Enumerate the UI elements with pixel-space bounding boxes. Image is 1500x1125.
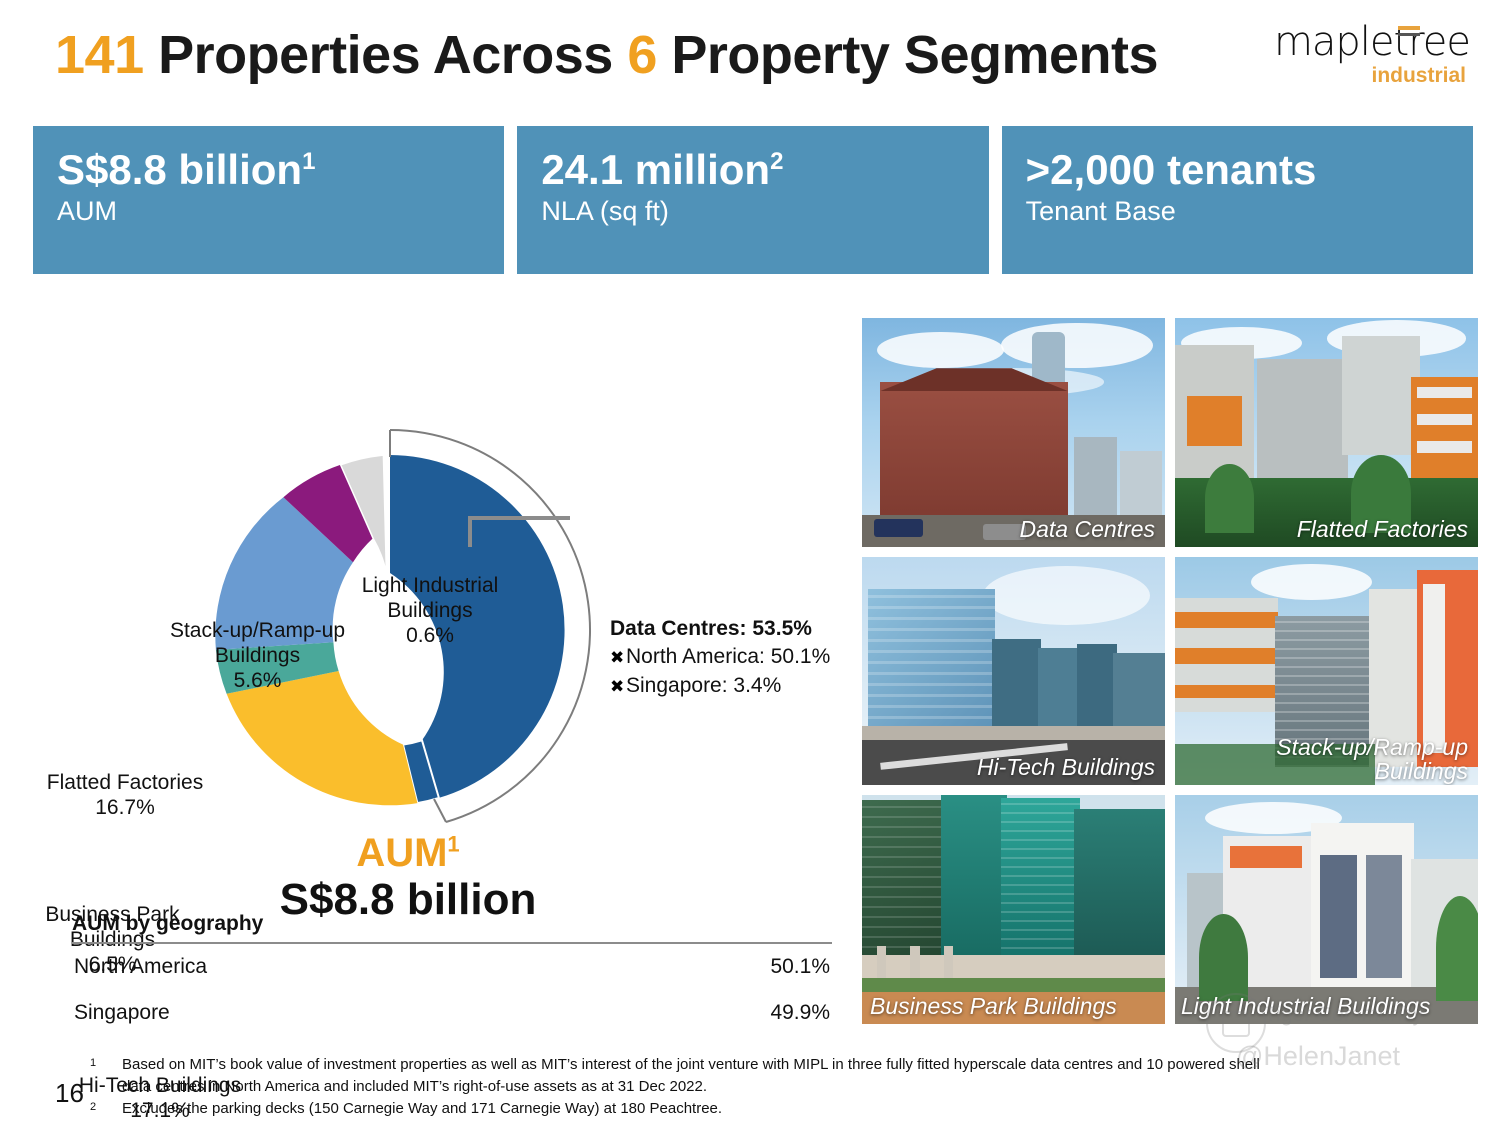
property-photo-grid: Data Centres Flatted Factories: [862, 318, 1478, 1024]
stat-box-nla: 24.1 million2 NLA (sq ft): [517, 126, 988, 274]
photo-flatted-factories: Flatted Factories: [1175, 318, 1478, 547]
bowtie-bullet-icon: ✖: [610, 676, 626, 699]
callout-item-north-america-label: North America: 50.1%: [626, 645, 830, 668]
stat-label-tenants: Tenant Base: [1026, 196, 1473, 227]
photo-caption-light-industrial-buildings: Light Industrial Buildings: [1181, 994, 1468, 1018]
callout-title: Data Centres: 53.5%: [610, 615, 830, 643]
page-number: 16: [55, 1078, 84, 1109]
stat-label-aum: AUM: [57, 196, 504, 227]
stat-value-tenants: >2,000 tenants: [1026, 148, 1473, 192]
footnote-1-cont-spacer: [90, 1076, 122, 1098]
footnote-1: 1 Based on MIT’s book value of investmen…: [90, 1054, 1260, 1076]
photo-caption-stack-up-l1: Stack-up/Ramp-up: [1185, 735, 1468, 759]
stat-value-aum: S$8.8 billion1: [57, 148, 504, 192]
donut-center-label: AUM1: [258, 833, 558, 873]
stat-value-aum-footnote: 1: [302, 148, 315, 175]
logo-wordmark: mapletree: [1274, 22, 1470, 62]
stat-value-aum-text: S$8.8 billion: [57, 146, 302, 193]
table-row: North America 50.1%: [72, 944, 832, 990]
logo-accent-bar2-icon: [1398, 33, 1420, 36]
footnote-2: 2 Excludes the parking decks (150 Carneg…: [90, 1098, 1260, 1120]
photo-caption-flatted-factories: Flatted Factories: [1185, 517, 1468, 541]
footnote-1-cont: data centres in North America and includ…: [90, 1076, 1260, 1098]
title-tail-text: Property Segments: [657, 25, 1158, 85]
stat-box-aum: S$8.8 billion1 AUM: [33, 126, 504, 274]
data-centres-group-arc-tick-end: [434, 799, 446, 822]
photo-caption-hi-tech-buildings: Hi-Tech Buildings: [872, 755, 1155, 779]
callout-item-singapore: ✖Singapore: 3.4%: [610, 672, 830, 700]
footnote-1-text-cont: data centres in North America and includ…: [122, 1076, 1260, 1098]
photo-caption-business-park-buildings: Business Park Buildings: [870, 994, 1155, 1018]
donut-label-stack-up-l1: Stack-up/Ramp-up: [150, 618, 365, 643]
photo-data-centres: Data Centres: [862, 318, 1165, 547]
bowtie-bullet-icon: ✖: [610, 647, 626, 670]
donut-label-stack-up-pct: 5.6%: [150, 668, 365, 693]
donut-label-flatted-pct: 16.7%: [30, 795, 220, 820]
logo-subtitle: industrial: [1274, 64, 1466, 88]
donut-label-light-industrial-l1: Light Industrial: [330, 573, 530, 598]
title-mid-text: Properties Across: [144, 25, 628, 85]
table-row: Singapore 49.9%: [72, 990, 832, 1036]
logo-wordmark-text: mapletree: [1274, 19, 1470, 65]
stat-value-nla-footnote: 2: [770, 148, 783, 175]
stat-box-row: S$8.8 billion1 AUM 24.1 million2 NLA (sq…: [33, 126, 1473, 274]
photo-business-park-buildings: Business Park Buildings: [862, 795, 1165, 1024]
title-property-count: 141: [55, 25, 144, 85]
donut-center-label-text: AUM: [356, 831, 447, 875]
geography-row-pct: 50.1%: [770, 955, 830, 979]
photo-caption-data-centres: Data Centres: [872, 517, 1155, 541]
donut-label-stack-up-l2: Buildings: [150, 643, 365, 668]
stat-value-tenants-text: >2,000 tenants: [1026, 146, 1317, 193]
page-title: 141 Properties Across 6 Property Segment…: [55, 24, 1158, 86]
photo-caption-stack-up-ramp-up-buildings: Stack-up/Ramp-up Buildings: [1185, 735, 1468, 783]
stat-value-nla: 24.1 million2: [541, 148, 988, 192]
callout-item-north-america: ✖North America: 50.1%: [610, 643, 830, 671]
footnote-2-marker: 2: [90, 1098, 122, 1120]
geography-row-region: North America: [74, 955, 207, 979]
footnote-2-text: Excludes the parking decks (150 Carnegie…: [122, 1098, 1260, 1120]
aum-donut-chart: AUM1 S$8.8 billion Light Industrial Buil…: [0, 285, 840, 905]
stat-value-nla-text: 24.1 million: [541, 146, 770, 193]
stat-label-nla: NLA (sq ft): [541, 196, 988, 227]
logo-accent-bar-icon: [1398, 26, 1420, 30]
donut-label-flatted-factories: Flatted Factories 16.7%: [30, 770, 220, 820]
data-centres-callout: Data Centres: 53.5% ✖North America: 50.1…: [610, 615, 830, 700]
donut-center-label-footnote: 1: [447, 832, 459, 857]
mapletree-logo: mapletree industrial: [1274, 22, 1470, 88]
footnotes: 1 Based on MIT’s book value of investmen…: [90, 1054, 1260, 1119]
donut-label-flatted-l1: Flatted Factories: [30, 770, 220, 795]
photo-stack-up-ramp-up-buildings: Stack-up/Ramp-up Buildings: [1175, 557, 1478, 786]
photo-caption-stack-up-l2: Buildings: [1185, 759, 1468, 783]
stat-box-tenants: >2,000 tenants Tenant Base: [1002, 126, 1473, 274]
footnote-1-marker: 1: [90, 1054, 122, 1076]
slide-root: 141 Properties Across 6 Property Segment…: [0, 0, 1500, 1125]
photo-light-industrial-buildings: Light Industrial Buildings: [1175, 795, 1478, 1024]
geography-table-title: AUM by geography: [72, 912, 832, 942]
photo-hi-tech-buildings: Hi-Tech Buildings: [862, 557, 1165, 786]
callout-item-singapore-label: Singapore: 3.4%: [626, 674, 781, 697]
watermark-line-2: @HelenJanet: [1236, 1041, 1400, 1072]
donut-label-stack-up-ramp-up: Stack-up/Ramp-up Buildings 5.6%: [150, 618, 365, 694]
title-segment-count: 6: [627, 25, 657, 85]
footnote-1-text: Based on MIT’s book value of investment …: [122, 1054, 1260, 1076]
geography-row-pct: 49.9%: [770, 1001, 830, 1025]
geography-row-region: Singapore: [74, 1001, 170, 1025]
aum-by-geography-table: AUM by geography North America 50.1% Sin…: [72, 912, 832, 1036]
